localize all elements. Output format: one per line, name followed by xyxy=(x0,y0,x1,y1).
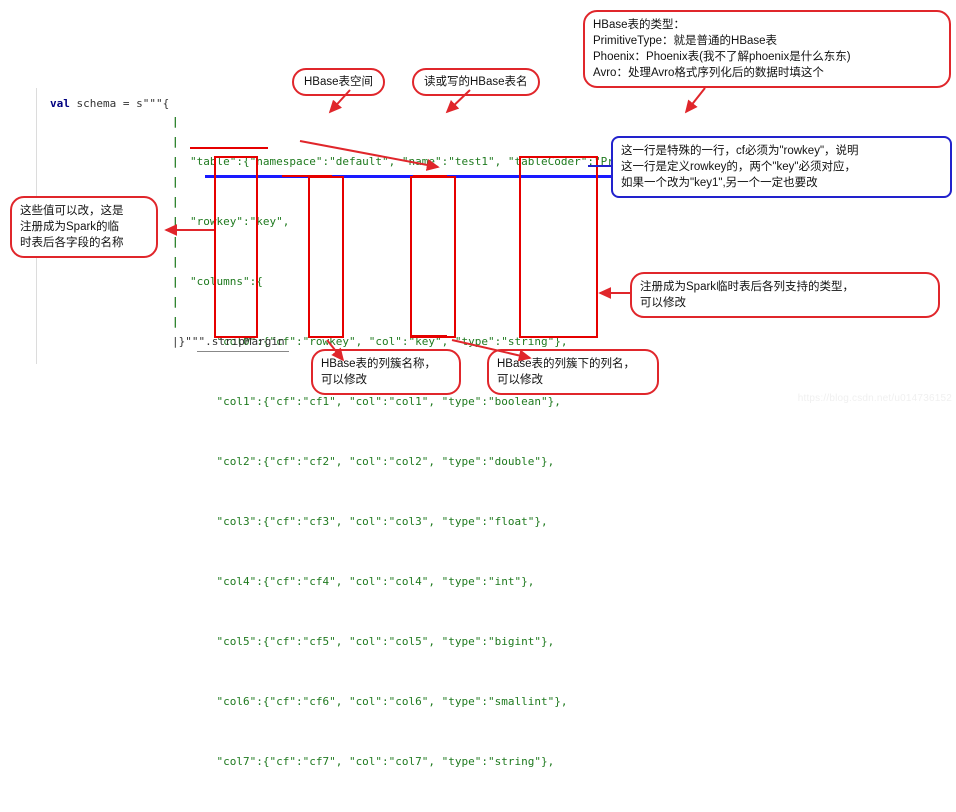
code-line-col6: "col6":{"cf":"cf6", "col":"col6", "type"… xyxy=(190,692,707,712)
code-declaration-line: val schema = s"""{ xyxy=(50,94,169,114)
code-line-col4: "col4":{"cf":"cf4", "col":"col4", "type"… xyxy=(190,572,707,592)
code-line-col3: "col3":{"cf":"cf3", "col":"col3", "type"… xyxy=(190,512,707,532)
callout-field-names: 这些值可以改，这是 注册成为Spark的临 时表后各字段的名称 xyxy=(10,196,158,258)
highlight-box-column-families xyxy=(308,176,344,338)
callout-rowkey-row: 这一行是特殊的一行，cf必须为"rowkey"，说明 这一行是定义rowkey的… xyxy=(611,136,952,198)
margin-pipe: | xyxy=(172,252,179,272)
margin-pipe: | xyxy=(172,172,179,192)
callout-table-name: 读或写的HBase表名 xyxy=(412,68,540,96)
code-line-col2: "col2":{"cf":"cf2", "col":"col2", "type"… xyxy=(190,452,707,472)
callout-column-name: HBase表的列簇下的列名， 可以修改 xyxy=(487,349,659,395)
margin-pipe: | xyxy=(172,292,179,312)
margin-pipe: | xyxy=(172,232,179,252)
highlight-box-field-names xyxy=(214,156,258,338)
code-line-col7: "col7":{"cf":"cf7", "col":"col7", "type"… xyxy=(190,752,707,772)
callout-column-family: HBase表的列簇名称， 可以修改 xyxy=(311,349,461,395)
margin-pipe: | xyxy=(172,112,179,132)
highlight-box-types xyxy=(519,156,598,338)
margin-pipe: | xyxy=(172,312,179,332)
margin-pipe: | xyxy=(172,272,179,292)
code-declaration-rest: schema = s"""{ xyxy=(70,97,169,110)
arrow-table-coder xyxy=(686,88,705,112)
watermark: https://blog.csdn.net/u014736152 xyxy=(798,393,952,404)
stripmargin-underline xyxy=(197,351,289,352)
code-keyword-val: val xyxy=(50,97,70,110)
callout-table-coder: HBase表的类型： PrimitiveType：就是普通的HBase表 Pho… xyxy=(583,10,951,88)
highlight-box-column-names xyxy=(410,176,456,338)
margin-pipe: | xyxy=(172,212,179,232)
rowkey-underline xyxy=(190,147,268,149)
margin-pipe: | xyxy=(172,152,179,172)
margin-pipe: | xyxy=(172,192,179,212)
code-line-col1: "col1":{"cf":"cf1", "col":"col1", "type"… xyxy=(190,392,707,412)
annotated-code-figure: val schema = s"""{ | | | | | | | | | | |… xyxy=(0,0,956,406)
code-line-col5: "col5":{"cf":"cf5", "col":"col5", "type"… xyxy=(190,632,707,652)
callout-namespace: HBase表空间 xyxy=(292,68,385,96)
margin-pipe: | xyxy=(172,132,179,152)
callout-column-types: 注册成为Spark临时表后各列支持的类型， 可以修改 xyxy=(630,272,940,318)
